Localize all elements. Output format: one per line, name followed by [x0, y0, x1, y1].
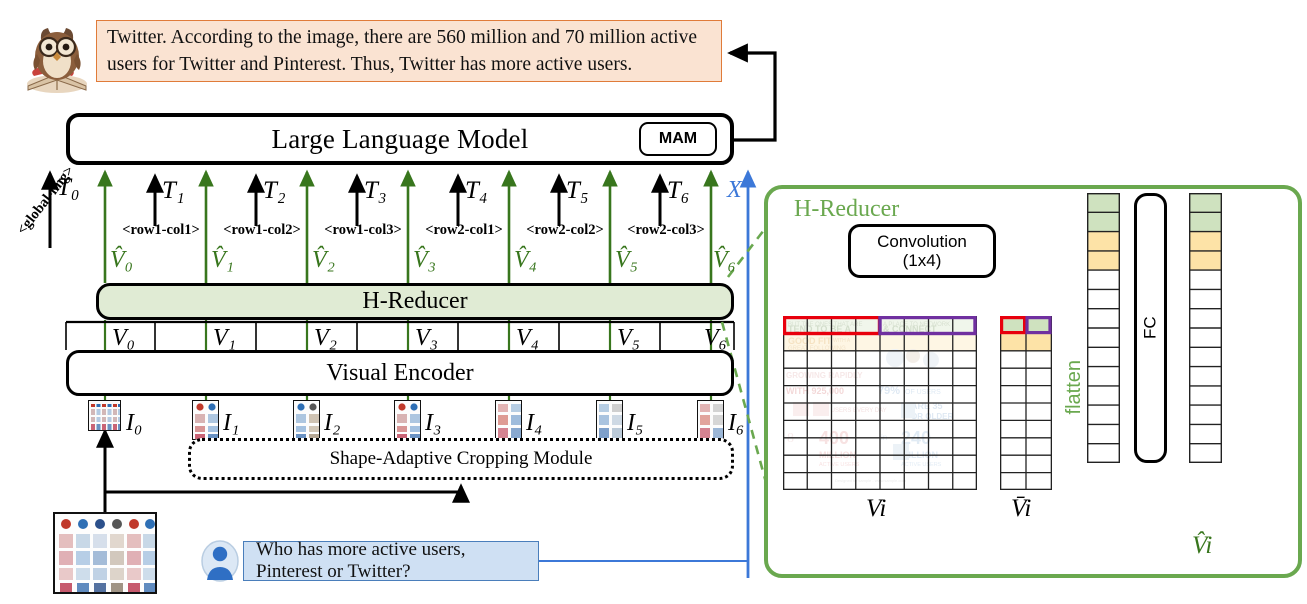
image-label-6: I₆	[728, 410, 744, 437]
vhat-label-3: V̂₃	[413, 247, 436, 274]
global-img-tag-wrap: <global-img>	[14, 228, 124, 288]
visual-encoder-module: Visual Encoder	[66, 350, 734, 396]
h-reducer-label: H-Reducer	[362, 288, 467, 315]
text-token-label-t6: T₆	[667, 177, 690, 205]
diagram-canvas: Twitter. According to the image, there a…	[0, 0, 1307, 604]
image-thumbnail-4	[495, 400, 522, 440]
text-token-label-t4: T₄	[465, 177, 488, 205]
assistant-owl-avatar	[20, 14, 94, 98]
svg-text:OF USERS: OF USERS	[905, 389, 941, 396]
svg-text:ACTIVE USERS: ACTIVE USERS	[901, 462, 942, 468]
vi-feature-grid: BUT THE ONES THAT ARE TEND TO BE A A PLA…	[783, 316, 977, 490]
v-label-6: V₆	[704, 325, 727, 352]
vhat-output-label: V̂i	[1192, 532, 1212, 560]
fc-layer-box: FC	[1134, 193, 1167, 463]
svg-text:ACTIVE USERS: ACTIVE USERS	[819, 462, 860, 468]
svg-text:OR OLDER: OR OLDER	[911, 412, 953, 421]
text-token-label-t1: T₁	[162, 177, 185, 205]
vhat-label-2: V̂₂	[312, 247, 335, 274]
convolution-label-line1: Convolution	[877, 232, 967, 251]
image-thumbnail-6	[697, 400, 724, 440]
vi-label: Vi	[866, 495, 886, 523]
large-language-model-box: Large Language Model MAM	[66, 113, 734, 165]
text-token-label-t5: T₅	[566, 177, 589, 205]
vhat-label-4: V̂₄	[514, 247, 537, 274]
image-thumbnail-5	[596, 400, 623, 440]
image-thumbnail-2	[293, 400, 320, 440]
v-label-2: V₂	[314, 325, 337, 352]
vhat-label-1: V̂₁	[211, 247, 234, 274]
crop-module-label: Shape-Adaptive Cropping Module	[330, 448, 593, 470]
flattened-vector	[1087, 193, 1120, 463]
svg-text:GROWING RAPIDLY: GROWING RAPIDLY	[786, 371, 863, 380]
image-label-2: I₂	[324, 410, 340, 437]
output-vector	[1189, 193, 1222, 463]
image-label-5: I₅	[627, 410, 643, 437]
source-input-image	[53, 512, 157, 594]
image-thumbnail-1	[192, 400, 219, 440]
convolution-box: Convolution (1x4)	[848, 224, 996, 278]
image-thumbnail-0	[88, 400, 121, 431]
position-tag-row2-col2: <row2-col2>	[517, 222, 613, 239]
position-tag-row2-col3: <row2-col3>	[618, 222, 714, 239]
svg-text:79%: 79%	[878, 385, 900, 397]
v-label-5: V₅	[617, 325, 640, 352]
mam-module-badge: MAM	[639, 122, 717, 156]
position-tag-row1-col3: <row1-col3>	[315, 222, 411, 239]
image-thumbnail-3	[394, 400, 421, 440]
assistant-answer-bubble: Twitter. According to the image, there a…	[96, 20, 722, 82]
h-reducer-module: H-Reducer	[96, 283, 734, 320]
vhat-label-0: V̂₀	[110, 247, 133, 274]
x-label: X	[727, 177, 742, 204]
fc-layer-label: FC	[1137, 196, 1164, 460]
convolution-label-line2: (1x4)	[903, 251, 942, 270]
user-avatar	[199, 540, 241, 582]
svg-text:WITH 925,000: WITH 925,000	[786, 386, 844, 396]
position-tag-row1-col2: <row1-col2>	[214, 222, 310, 239]
vhat-label-5: V̂₅	[615, 247, 638, 274]
text-token-label-t2: T₂	[263, 177, 286, 205]
shape-adaptive-cropping-module: Shape-Adaptive Cropping Module	[188, 438, 734, 480]
svg-text:GOOD FIT: GOOD FIT	[788, 336, 832, 346]
user-question-bubble: Who has more active users, Pinterest or …	[243, 541, 539, 581]
svg-text:Designed by sample - www.sampl: Designed by sample - www.sample.com	[835, 478, 907, 483]
image-label-1: I₁	[223, 410, 239, 437]
assistant-answer-text: Twitter. According to the image, there a…	[107, 24, 711, 78]
vbar-feature-grid	[1000, 316, 1052, 490]
v-label-4: V₄	[516, 325, 539, 352]
user-question-text: Who has more active users, Pinterest or …	[256, 539, 526, 583]
position-tag-row1-col1: <row1-col1>	[113, 222, 209, 239]
svg-text:WITH A: WITH A	[833, 338, 851, 344]
vbar-label: V̄i	[1011, 495, 1031, 523]
llm-label: Large Language Model	[272, 124, 529, 155]
source-image-to-crop-arrow	[105, 486, 461, 512]
v-label-3: V₃	[415, 325, 438, 352]
h-reducer-detail-title: H-Reducer	[794, 196, 899, 223]
v-label-1: V₁	[213, 325, 236, 352]
flatten-label: flatten	[1063, 360, 1086, 414]
text-token-label-t3: T₃	[364, 177, 387, 205]
image-label-4: I₄	[526, 410, 542, 437]
image-label-0: I₀	[126, 410, 142, 437]
svg-text:8: 8	[787, 431, 794, 446]
v-label-0: V₀	[112, 325, 135, 352]
visual-encoder-label: Visual Encoder	[326, 360, 473, 387]
global-img-tag: <global-img>	[14, 141, 95, 238]
image-label-3: I₃	[425, 410, 441, 437]
position-tag-row2-col1: <row2-col1>	[416, 222, 512, 239]
vhat-label-6: V̂₆	[713, 247, 736, 274]
